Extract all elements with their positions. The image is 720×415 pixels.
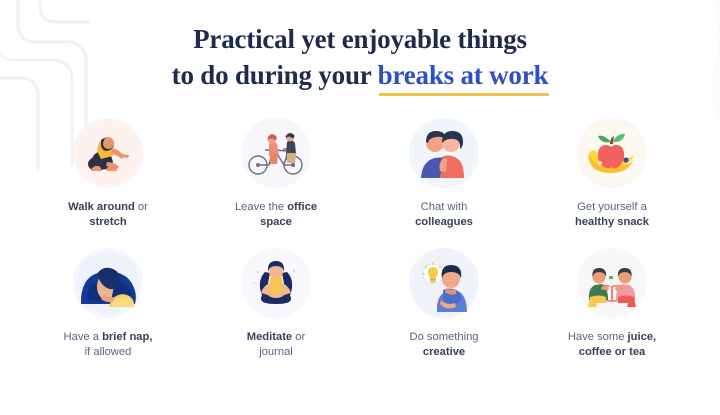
tip-caption: Have a brief nap, if allowed — [64, 330, 153, 361]
tip-caption-line2: journal — [247, 345, 305, 360]
tip-caption-line2: if allowed — [64, 345, 153, 360]
tip-caption-line1-a: Walk around — [68, 201, 135, 213]
tip-caption: Walk around or stretch — [68, 200, 148, 231]
tip-item-meditate[interactable]: Meditate or journal — [192, 248, 360, 378]
tip-caption-line1-b: brief nap, — [102, 331, 152, 343]
tip-caption-line2: space — [235, 215, 317, 230]
tip-caption-line2: healthy snack — [575, 215, 649, 230]
tip-caption-line1-b: or — [292, 331, 305, 343]
tip-item-leave-office[interactable]: Leave the office space — [192, 118, 360, 248]
page-title-line1: Practical yet enjoyable things — [0, 22, 720, 58]
tip-item-brief-nap[interactable]: Have a brief nap, if allowed — [24, 248, 192, 378]
tip-caption: Chat with colleagues — [415, 200, 473, 231]
tip-caption-line2: stretch — [68, 215, 148, 230]
page-title-line2-prefix: to do during your — [172, 60, 378, 90]
tip-caption: Get yourself a healthy snack — [575, 200, 649, 231]
tip-caption-line1-a: Chat with — [421, 201, 468, 213]
tip-item-do-creative[interactable]: Do something creative — [360, 248, 528, 378]
tip-caption: Leave the office space — [235, 200, 317, 231]
tip-caption-line2: creative — [409, 345, 478, 360]
tip-caption-line1-a: Leave the — [235, 201, 287, 213]
page-title-line2: to do during your breaks at work — [0, 58, 720, 95]
slide-canvas: Practical yet enjoyable things to do dur… — [0, 0, 720, 415]
tip-caption-line1-a: Have a — [64, 331, 103, 343]
squat-stretch-icon — [73, 118, 143, 188]
page-title-highlight: breaks at work — [378, 58, 549, 95]
tip-caption-line2: colleagues — [415, 215, 473, 230]
tip-caption-line1-a: Do something — [409, 331, 478, 343]
tip-caption-line1-a: Get yourself a — [577, 201, 647, 213]
lightbulb-idea-person-icon — [409, 248, 479, 318]
tip-caption-line1-b: office — [287, 201, 317, 213]
tandem-bicycle-icon — [241, 118, 311, 188]
tip-caption-line1-a: Meditate — [247, 331, 292, 343]
tip-caption-line1-b: juice, — [628, 331, 657, 343]
two-colleagues-icon — [409, 118, 479, 188]
apple-banana-snack-icon — [577, 118, 647, 188]
tip-item-walk-around[interactable]: Walk around or stretch — [24, 118, 192, 248]
page-title: Practical yet enjoyable things to do dur… — [0, 22, 720, 95]
tip-item-juice-coffee-tea[interactable]: Have some juice, coffee or tea — [528, 248, 696, 378]
napping-person-icon — [73, 248, 143, 318]
tip-caption: Do something creative — [409, 330, 478, 361]
cafe-table-conversation-icon — [577, 248, 647, 318]
tips-grid: Walk around or stretch — [24, 118, 696, 378]
meditating-person-icon — [241, 248, 311, 318]
tip-caption-line1-b: or — [135, 201, 148, 213]
tip-caption: Have some juice, coffee or tea — [568, 330, 656, 361]
tip-item-chat-colleagues[interactable]: Chat with colleagues — [360, 118, 528, 248]
tip-caption-line1-a: Have some — [568, 331, 628, 343]
tip-caption-line2: coffee or tea — [568, 345, 656, 360]
tip-caption: Meditate or journal — [247, 330, 305, 361]
tip-item-healthy-snack[interactable]: Get yourself a healthy snack — [528, 118, 696, 248]
